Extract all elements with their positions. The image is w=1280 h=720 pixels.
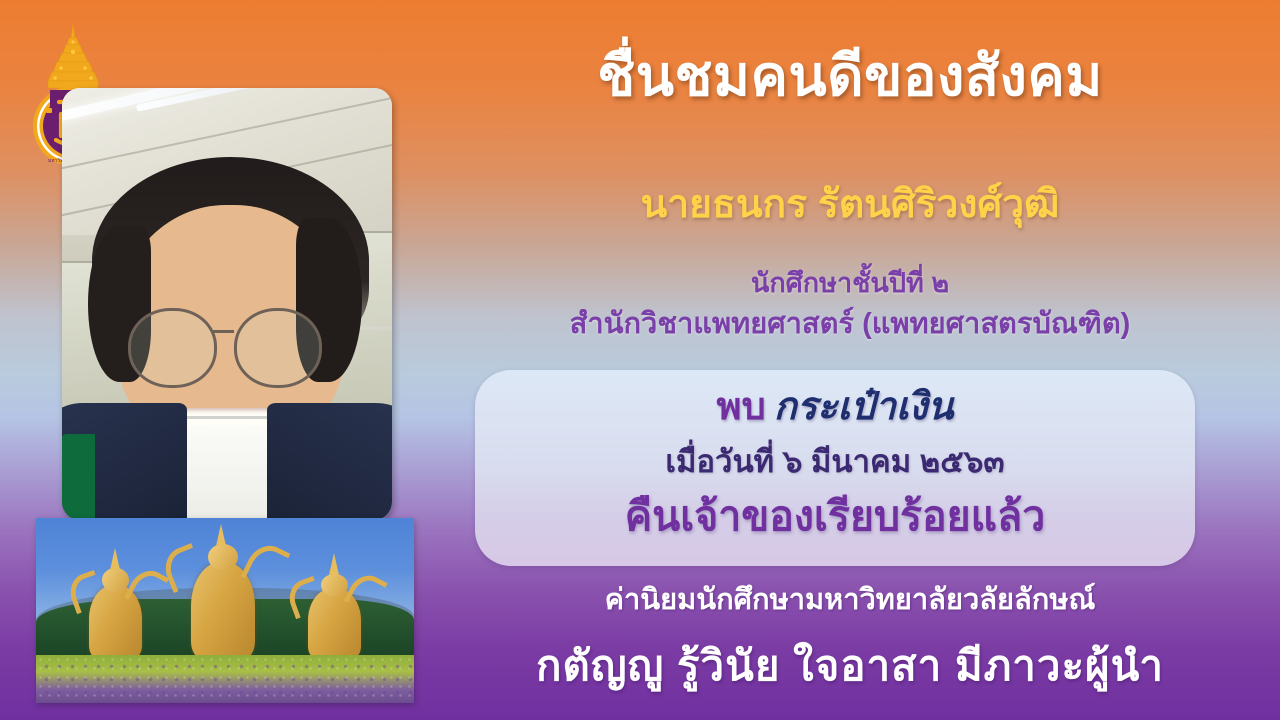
found-item: กระเป๋าเงิน (766, 386, 954, 428)
student-portrait-photo (62, 88, 392, 520)
golden-dancing-statues-photo (36, 518, 414, 703)
student-name: นายธนกร รัตนศิริวงศ์วุฒิ (420, 185, 1280, 224)
highlight-card: พบกระเป๋าเงิน เมื่อวันที่ ๖ มีนาคม ๒๕๖๓ … (475, 370, 1195, 566)
values-label: ค่านิยมนักศึกษามหาวิทยาลัยวลัยลักษณ์ (420, 586, 1280, 615)
returned-status: คืนเจ้าของเรียบร้อยแล้ว (475, 496, 1195, 537)
text-column: ชื่นชมคนดีของสังคม นายธนกร รัตนศิริวงศ์ว… (420, 0, 1280, 720)
student-year: นักศึกษาชั้นปีที่ ๒ (420, 268, 1280, 299)
found-prefix: พบ (717, 386, 766, 428)
found-date: เมื่อวันที่ ๖ มีนาคม ๒๕๖๓ (475, 446, 1195, 477)
values-list: กตัญญู รู้วินัย ใจอาสา มีภาวะผู้นำ (420, 645, 1280, 687)
student-school: สำนักวิชาแพทยศาสตร์ (แพทยศาสตรบัณฑิต) (420, 308, 1280, 341)
poster-canvas: มหาวิทยาลัยวลัยลักษณ์ (0, 0, 1280, 720)
page-title: ชื่นชมคนดีของสังคม (420, 48, 1280, 104)
found-line: พบกระเป๋าเงิน (475, 388, 1195, 426)
